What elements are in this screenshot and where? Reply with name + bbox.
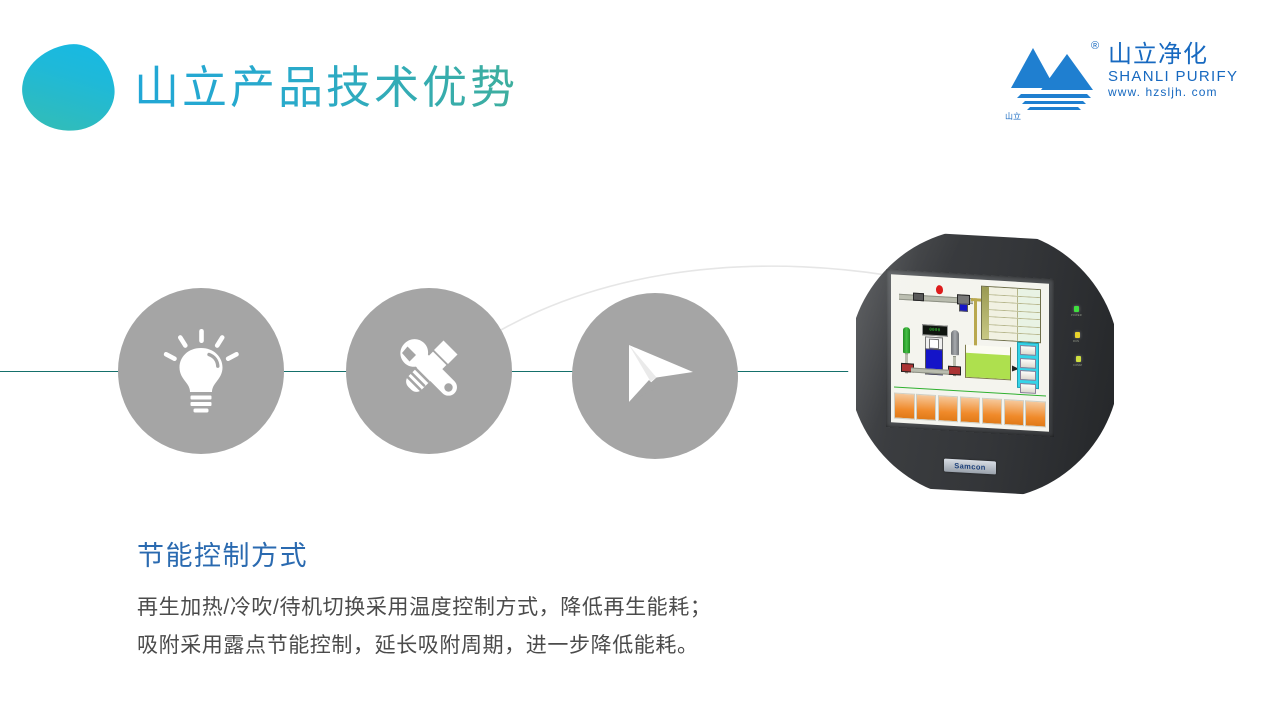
logo-website-url: www. hzsljh. com: [1108, 85, 1223, 100]
company-logo: 山立 ® 山立净化 SHANLI PURIFY www. hzsljh. com: [1005, 38, 1220, 120]
comm-led: [1076, 356, 1081, 362]
hmi-control-panel-photo: 0000: [848, 228, 1120, 500]
blob-shape: [16, 39, 119, 137]
wrench-screwdriver-icon: [383, 323, 475, 420]
power-led-label: POWER: [1071, 314, 1082, 317]
body-text-line-2: 吸附采用露点节能控制，延长吸附周期，进一步降低能耗。: [137, 630, 699, 662]
mountain-peaks-icon: [1005, 40, 1101, 112]
slide-canvas: 山立产品技术优势 山立 ® 山立净化 SHANLI PURIFY www. hz…: [0, 0, 1280, 720]
cursor-arrow-icon: [609, 328, 701, 425]
logo-mark-label: 山立: [1005, 111, 1021, 122]
step-circle-idea[interactable]: [118, 288, 284, 454]
comm-led-label: COMM: [1073, 364, 1082, 367]
brand-nameplate-label: Samcon: [954, 461, 986, 472]
logo-chinese-name: 山立净化: [1108, 42, 1223, 68]
power-led: [1074, 306, 1079, 312]
page-title: 山立产品技术优势: [134, 57, 518, 119]
registered-trademark-icon: ®: [1091, 40, 1099, 52]
lightbulb-icon: [155, 323, 247, 420]
section-title: 节能控制方式: [137, 538, 308, 574]
logo-wordmark: 山立净化 SHANLI PURIFY www. hzsljh. com: [1108, 42, 1223, 100]
run-led-label: RUN: [1073, 340, 1079, 343]
body-text-line-1: 再生加热/冷吹/待机切换采用温度控制方式，降低再生能耗；: [137, 592, 711, 624]
logo-english-name: SHANLI PURIFY: [1108, 68, 1223, 85]
step-circle-pointer[interactable]: [572, 293, 738, 459]
step-circle-tools[interactable]: [346, 288, 512, 454]
run-led: [1075, 332, 1080, 338]
